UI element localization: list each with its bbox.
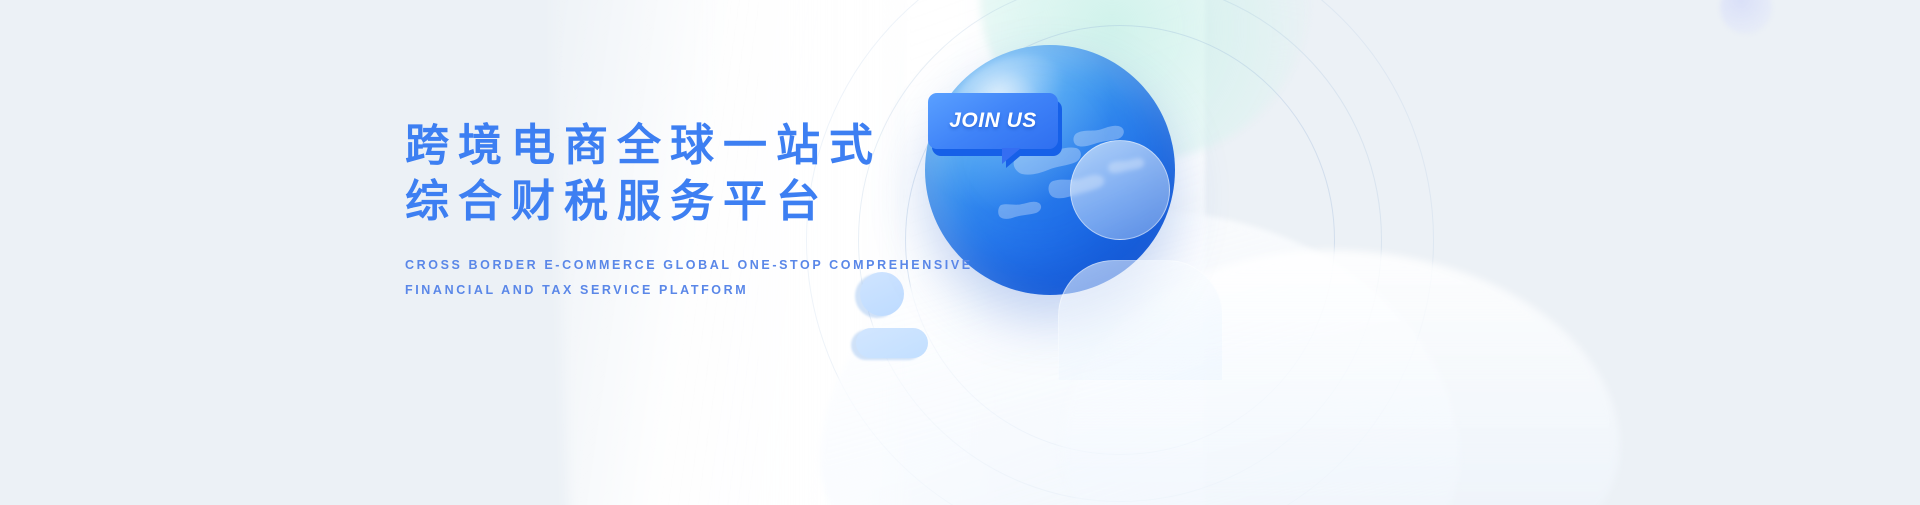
dot-decoration-icon	[1720, 0, 1772, 34]
subtitle-line-2: FINANCIAL AND TAX SERVICE PLATFORM	[405, 278, 925, 303]
headline-line-2: 综合财税服务平台	[405, 174, 925, 230]
banner-copy: 跨境电商全球一站式 综合财税服务平台 CROSS BORDER E-COMMER…	[405, 118, 925, 303]
page-title: 跨境电商全球一站式 综合财税服务平台	[405, 118, 925, 231]
join-us-button[interactable]: JOIN US	[928, 93, 1058, 151]
speech-bubble-icon: JOIN US	[928, 93, 1058, 149]
page-subtitle: CROSS BORDER E-COMMERCE GLOBAL ONE-STOP …	[405, 253, 925, 303]
subtitle-line-1: CROSS BORDER E-COMMERCE GLOBAL ONE-STOP …	[405, 253, 925, 278]
avatar-body	[856, 328, 928, 358]
join-us-label: JOIN US	[949, 109, 1037, 133]
speech-bubble-tail-icon	[1002, 148, 1021, 164]
promo-banner: JOIN US 跨境电商全球一站式 综合财税服务平台 CROSS BORDER …	[0, 0, 1920, 505]
headline-line-1: 跨境电商全球一站式	[405, 121, 882, 170]
avatar-head	[1070, 140, 1170, 240]
avatar-body	[1058, 260, 1223, 380]
